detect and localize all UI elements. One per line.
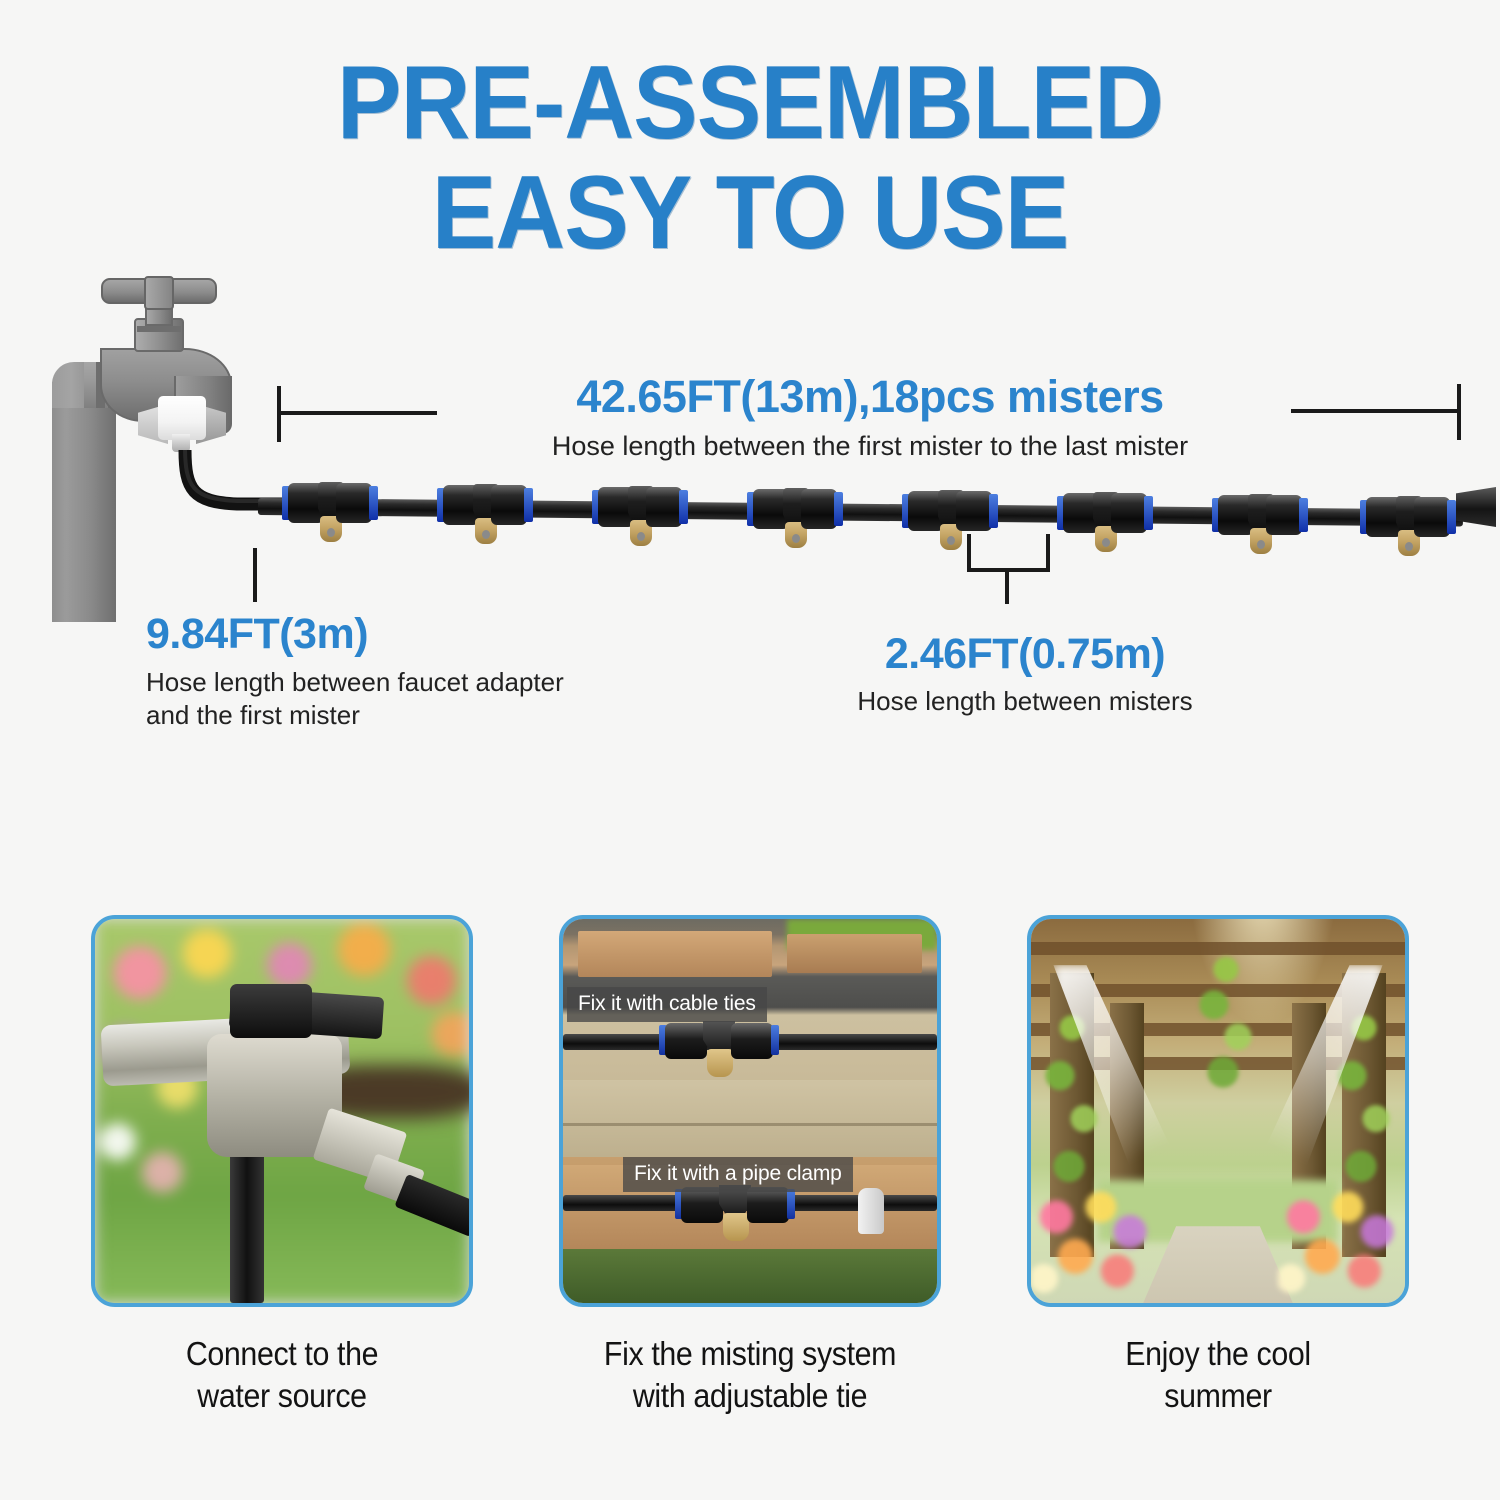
dimension-tick-right [1457, 384, 1461, 440]
step-caption-line1: Connect to the [106, 1333, 457, 1375]
mister-barrel-right [801, 489, 837, 529]
flower-bed-left [1031, 1180, 1158, 1303]
bracket-tick-left [967, 534, 971, 572]
mister-nozzle [437, 488, 533, 550]
bracket-stem [1005, 568, 1009, 604]
fitting-barrel-right [731, 1023, 773, 1059]
wood-plank-b [787, 934, 922, 972]
photo-content: Fix it with cable ties Fix it with a pip… [563, 919, 937, 1303]
photo-content [95, 919, 469, 1303]
mister-barrel-right [491, 485, 527, 525]
bracket-tick-right [1046, 534, 1050, 572]
hose-end-cap [1448, 487, 1500, 527]
dimension-line-right [1291, 409, 1461, 413]
step-caption-line2: with adjustable tie [574, 1375, 925, 1417]
mister-collar-right [369, 486, 378, 520]
wood-plank-a [578, 931, 772, 977]
photo-content [1031, 919, 1405, 1303]
fitting-collar-right [787, 1189, 795, 1219]
spacing-measure-label: 2.46FT(0.75m) Hose length between mister… [825, 632, 1225, 717]
mister-nozzle [747, 492, 843, 554]
stone-mortar-line [563, 1123, 937, 1126]
fitting-barrel-left [681, 1187, 723, 1223]
mister-nozzle [282, 486, 378, 548]
main-measure-value: 42.65FT(13m),18pcs misters [440, 374, 1300, 419]
usage-step-card: Fix it with cable ties Fix it with a pip… [559, 915, 941, 1435]
mister-collar-right [679, 490, 688, 524]
mister-barrel-right [956, 491, 992, 531]
mister-barrel-right [1111, 493, 1147, 533]
brass-nozzle [707, 1049, 733, 1077]
flower-bed-right [1278, 1180, 1405, 1303]
mister-barrel-right [646, 487, 682, 527]
mister-barrel-right [1266, 495, 1302, 535]
usage-step-card: Enjoy the cool summer [1027, 915, 1409, 1435]
brass-nozzle [723, 1213, 749, 1241]
mister-fitting-top [659, 1023, 779, 1063]
spacing-measure-value: 2.46FT(0.75m) [825, 632, 1225, 677]
faucet-measure-description: Hose length between faucet adapter and t… [146, 666, 564, 733]
step-caption-line1: Enjoy the cool [1042, 1333, 1393, 1375]
overlay-label-cable-ties: Fix it with cable ties [567, 987, 767, 1022]
leader-line-faucet-measure [253, 548, 257, 602]
main-measure-description: Hose length between the first mister to … [440, 431, 1300, 462]
usage-steps-section: Connect to the water source [0, 915, 1500, 1435]
step-caption: Fix the misting system with adjustable t… [574, 1333, 925, 1416]
photo-fixing-methods: Fix it with cable ties Fix it with a pip… [559, 915, 941, 1307]
mister-barrel-right [1414, 497, 1450, 537]
step-caption-line1: Fix the misting system [574, 1333, 925, 1375]
step-caption-line2: water source [106, 1375, 457, 1417]
pipe-clamp [858, 1188, 884, 1234]
usage-step-card: Connect to the water source [91, 915, 473, 1435]
main-measure-label: 42.65FT(13m),18pcs misters Hose length b… [440, 374, 1300, 462]
mister-collar-right [989, 494, 998, 528]
step-caption-line2: summer [1042, 1375, 1393, 1417]
fitting-barrel-right [747, 1187, 789, 1223]
mister-collar-right [1299, 498, 1308, 532]
spacing-measure-description: Hose length between misters [825, 686, 1225, 717]
overlay-label-pipe-clamp: Fix it with a pipe clamp [623, 1157, 853, 1192]
faucet-measure-label: 9.84FT(3m) Hose length between faucet ad… [146, 612, 564, 733]
climbing-vine [1196, 934, 1256, 1111]
photo-spigot-garden [91, 915, 473, 1307]
end-cap-cone [1456, 487, 1496, 527]
mister-nozzle [592, 490, 688, 552]
fitting-collar-right [771, 1025, 779, 1055]
fitting-barrel-left [665, 1023, 707, 1059]
mister-nozzle [1057, 496, 1153, 558]
mister-fitting-bottom [675, 1187, 795, 1227]
mister-nozzle [902, 494, 998, 556]
mister-nozzle [1360, 500, 1456, 562]
mister-collar-right [834, 492, 843, 526]
step-caption: Enjoy the cool summer [1042, 1333, 1393, 1416]
photo-pergola-mist [1027, 915, 1409, 1307]
spigot-lever-knuckle [230, 984, 312, 1038]
product-diagram: 42.65FT(13m),18pcs misters Hose length b… [0, 0, 1500, 780]
dimension-line-left [277, 411, 437, 415]
mister-collar-right [1144, 496, 1153, 530]
faucet-measure-description-line1: Hose length between faucet adapter [146, 666, 564, 699]
mister-collar-right [524, 488, 533, 522]
faucet-measure-description-line2: and the first mister [146, 699, 564, 732]
step-caption: Connect to the water source [106, 1333, 457, 1416]
faucet-measure-value: 9.84FT(3m) [146, 612, 564, 657]
mister-nozzle [1212, 498, 1308, 560]
mister-barrel-right [336, 483, 372, 523]
